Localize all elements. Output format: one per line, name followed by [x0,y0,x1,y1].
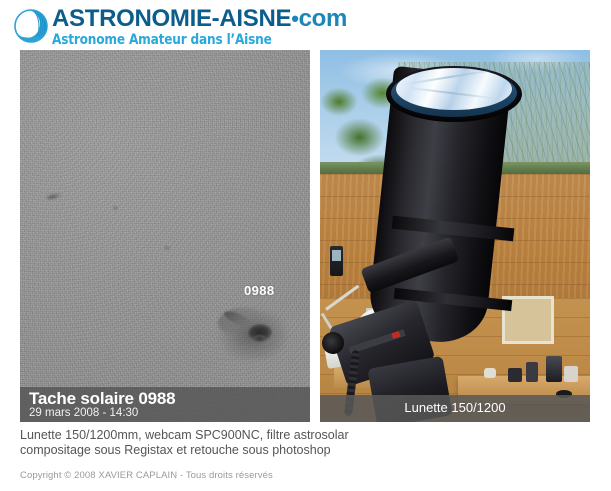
solar-caption-datetime: 29 mars 2008 - 14:30 [29,407,138,419]
site-logo-text[interactable]: ASTRONOMIE-AISNE•com Astronome Amateur d… [52,7,347,49]
photo-grain-texture [20,50,310,422]
site-header: ASTRONOMIE-AISNE•com Astronome Amateur d… [0,0,611,48]
site-tagline: Astronome Amateur dans l’Aisne [52,32,326,49]
small-white-accessory [484,368,496,378]
eyepiece-accessory-4 [564,366,578,382]
sunspot-number-label: 0988 [244,283,275,298]
eyepiece-accessory-2 [526,362,538,382]
solar-photo [20,50,310,422]
solar-photo-panel[interactable]: 0988 Tache solaire 0988 29 mars 2008 - 1… [20,50,310,422]
copyright-notice: Copyright © 2008 XAVIER CAPLAIN - Tous d… [20,470,273,481]
description-line-1: Lunette 150/1200mm, webcam SPC900NC, fil… [20,428,580,443]
eyepiece-accessory-1 [508,368,522,382]
telescope-caption-title: Lunette 150/1200 [320,400,590,415]
sunspot-pore-b [164,246,170,250]
site-title-com: com [299,5,347,32]
thermometer-display [332,250,341,261]
globe-logo-icon[interactable] [13,8,49,44]
telescope-photo-caption: Lunette 150/1200 [320,395,590,422]
site-title-main: ASTRONOMIE-AISNE [52,5,291,32]
site-title: ASTRONOMIE-AISNE•com [52,7,347,31]
telescope-photo [320,50,590,422]
sunspot-umbra-secondary [253,335,266,342]
eyepiece-accessory-3 [546,356,562,382]
sunspot-pore-a [113,206,118,210]
site-title-dot: • [291,6,298,31]
description-line-2: compositage sous Registax et retouche so… [20,443,580,458]
equipment-description: Lunette 150/1200mm, webcam SPC900NC, fil… [20,428,580,458]
solar-photo-caption: Tache solaire 0988 29 mars 2008 - 14:30 [20,387,310,422]
solar-caption-title: Tache solaire 0988 [29,389,175,409]
telescope-photo-panel[interactable]: Lunette 150/1200 [320,50,590,422]
